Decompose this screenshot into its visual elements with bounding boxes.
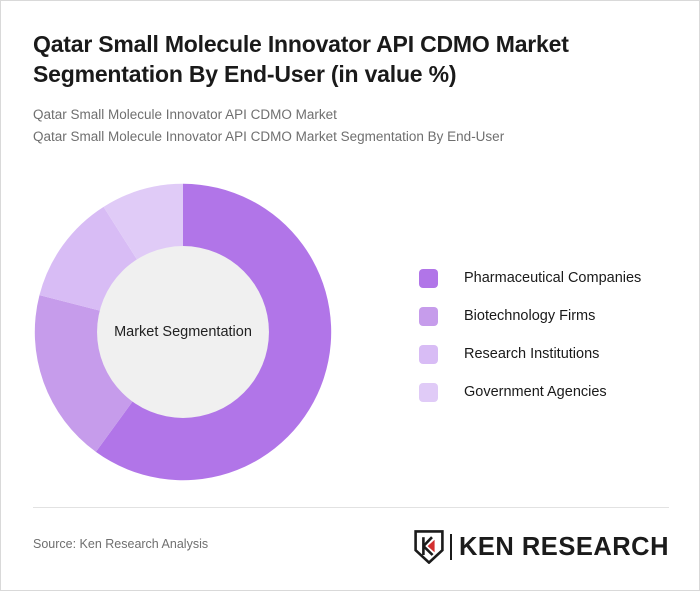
chart-legend: Pharmaceutical CompaniesBiotechnology Fi…: [419, 259, 681, 411]
logo-separator: [450, 534, 452, 560]
subtitle-group: Qatar Small Molecule Innovator API CDMO …: [33, 104, 661, 148]
ken-research-shield-icon: [414, 530, 444, 564]
donut-center-label: Market Segmentation: [114, 324, 252, 340]
chart-page: Qatar Small Molecule Innovator API CDMO …: [0, 0, 700, 591]
footer-divider: [33, 507, 669, 508]
donut-chart: Market Segmentation: [34, 183, 332, 481]
legend-item[interactable]: Biotechnology Firms: [419, 297, 681, 335]
subtitle-primary: Qatar Small Molecule Innovator API CDMO …: [33, 104, 661, 126]
donut-svg: Market Segmentation: [34, 183, 332, 481]
legend-item[interactable]: Government Agencies: [419, 373, 681, 411]
legend-swatch-icon: [419, 269, 438, 288]
legend-item-label: Research Institutions: [464, 346, 599, 362]
plot-area: Market Segmentation Pharmaceutical Compa…: [1, 161, 700, 501]
source-note: Source: Ken Research Analysis: [33, 537, 208, 551]
subtitle-secondary: Qatar Small Molecule Innovator API CDMO …: [33, 126, 661, 148]
ken-research-logo: KEN RESEARCH: [414, 529, 669, 565]
legend-swatch-icon: [419, 345, 438, 364]
chart-footer: Source: Ken Research Analysis KEN RESEAR…: [33, 529, 669, 569]
legend-item-label: Government Agencies: [464, 384, 607, 400]
chart-header: Qatar Small Molecule Innovator API CDMO …: [33, 29, 661, 147]
legend-item[interactable]: Research Institutions: [419, 335, 681, 373]
legend-item[interactable]: Pharmaceutical Companies: [419, 259, 681, 297]
page-title: Qatar Small Molecule Innovator API CDMO …: [33, 29, 661, 90]
legend-item-label: Pharmaceutical Companies: [464, 270, 641, 286]
legend-swatch-icon: [419, 383, 438, 402]
legend-swatch-icon: [419, 307, 438, 326]
legend-item-label: Biotechnology Firms: [464, 308, 595, 324]
logo-wordmark: KEN RESEARCH: [459, 533, 669, 562]
